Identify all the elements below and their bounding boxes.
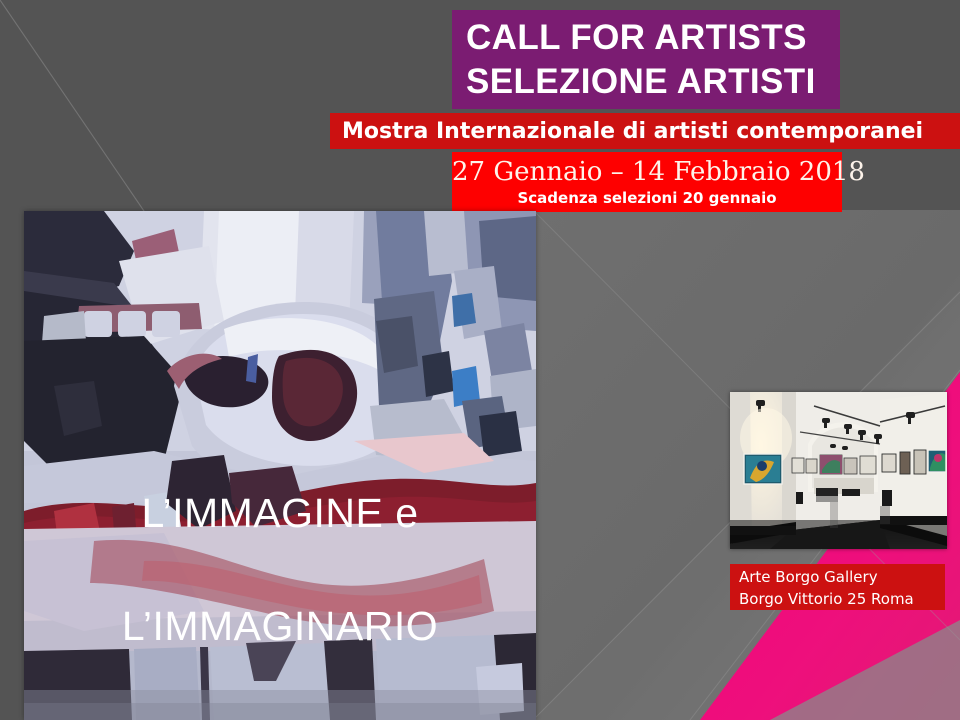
submission-deadline: Scadenza selezioni 20 gennaio bbox=[452, 189, 842, 207]
slide-canvas: CALL FOR ARTISTS SELEZIONE ARTISTI Mostr… bbox=[0, 0, 960, 720]
gallery-address: Borgo Vittorio 25 Roma bbox=[730, 588, 945, 610]
gallery-caption-box: Arte Borgo Gallery Borgo Vittorio 25 Rom… bbox=[730, 564, 945, 610]
call-for-artists-box: CALL FOR ARTISTS SELEZIONE ARTISTI bbox=[452, 10, 840, 109]
call-for-artists-line2: SELEZIONE ARTISTI bbox=[452, 60, 840, 104]
exhibition-subtitle-bar: Mostra Internazionale di artisti contemp… bbox=[330, 113, 960, 149]
exhibition-date-range: 27 Gennaio – 14 Febbraio 2018 bbox=[452, 152, 842, 189]
gallery-name: Arte Borgo Gallery bbox=[730, 564, 945, 588]
call-for-artists-line1: CALL FOR ARTISTS bbox=[452, 10, 840, 60]
gallery-photo bbox=[730, 392, 947, 549]
exhibition-subtitle-text: Mostra Internazionale di artisti contemp… bbox=[330, 119, 923, 144]
exhibition-dates-box: 27 Gennaio – 14 Febbraio 2018 Scadenza s… bbox=[452, 152, 842, 212]
artwork-image bbox=[24, 211, 536, 720]
